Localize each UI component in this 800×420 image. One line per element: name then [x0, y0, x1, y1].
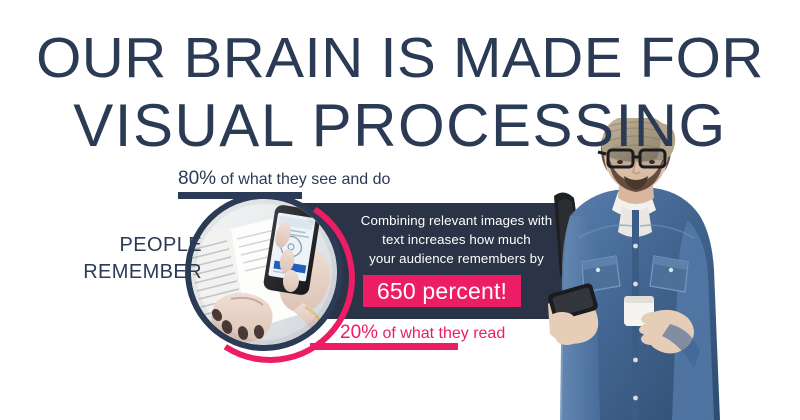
- circle-photo-image: [191, 199, 337, 345]
- info-panel-text: Combining relevant images with text incr…: [340, 212, 573, 269]
- people-remember-line-1: PEOPLE: [60, 232, 202, 259]
- info-panel-line-2: text increases how much: [340, 231, 573, 250]
- info-panel-line-1: Combining relevant images with: [340, 212, 573, 231]
- person-photo: [548, 118, 748, 420]
- info-panel-line-3: your audience remembers by: [340, 250, 573, 269]
- people-remember-line-2: REMEMBER: [60, 259, 202, 286]
- circle-photo: [191, 199, 337, 345]
- stat-see-and-do-text: of what they see and do: [216, 171, 390, 188]
- stat-read-rule: [310, 343, 458, 350]
- people-remember-label: PEOPLE REMEMBER: [60, 232, 202, 286]
- stat-see-and-do-percent: 80%: [178, 168, 216, 189]
- highlight-band: 650 percent!: [363, 275, 521, 307]
- infographic-canvas: OUR BRAIN IS MADE FOR VISUAL PROCESSING …: [0, 0, 800, 420]
- highlight-value: 650 percent!: [363, 275, 521, 307]
- stat-see-and-do-rule: [178, 192, 302, 199]
- headline-line-1: OUR BRAIN IS MADE FOR: [0, 30, 800, 87]
- stat-read-percent: 20%: [340, 322, 378, 343]
- stat-read: 20% of what they read: [340, 322, 505, 344]
- stat-read-text: of what they read: [378, 325, 505, 342]
- stat-see-and-do: 80% of what they see and do: [178, 168, 390, 190]
